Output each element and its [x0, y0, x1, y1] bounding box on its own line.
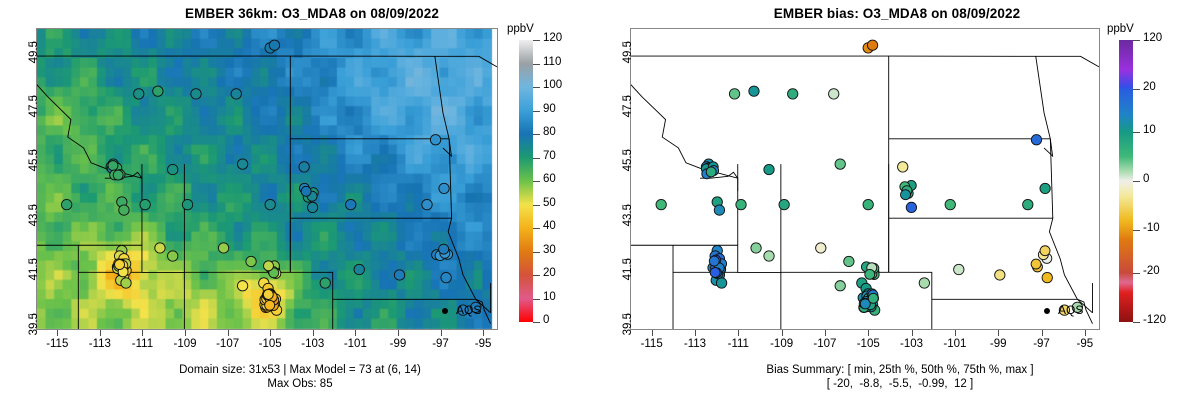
- observation-marker[interactable]: [835, 159, 845, 169]
- aqs-dot-icon: [442, 308, 448, 314]
- observation-marker[interactable]: [829, 89, 839, 99]
- observation-marker[interactable]: [729, 89, 739, 99]
- state-boundary: [184, 272, 332, 330]
- model-overlay: [37, 29, 497, 329]
- model-caption-line1: Domain size: 31x53 | Max Model = 73 at (…: [0, 363, 600, 377]
- x-tick-label: -95: [461, 338, 505, 350]
- state-boundary: [36, 56, 142, 191]
- y-tick-label: 41.5: [622, 258, 634, 288]
- x-tickmark: [695, 330, 696, 336]
- observation-marker[interactable]: [751, 243, 761, 253]
- aqs-dot-icon: [1044, 308, 1050, 314]
- state-boundary: [37, 56, 497, 67]
- x-tick-label: -111: [120, 338, 164, 350]
- state-boundary: [435, 56, 449, 138]
- observation-marker[interactable]: [710, 268, 720, 278]
- colorbar-tickmark: [533, 252, 540, 253]
- colorbar-tick-label: 10: [1143, 124, 1156, 136]
- observation-marker[interactable]: [264, 261, 274, 271]
- colorbar-unit-label: ppbV: [1107, 23, 1134, 35]
- x-tick-label: -95: [1063, 338, 1107, 350]
- x-tick-label: -105: [846, 338, 890, 350]
- observation-marker[interactable]: [113, 170, 123, 180]
- observation-marker[interactable]: [867, 40, 877, 50]
- x-tick-label: -113: [78, 338, 122, 350]
- colorbar-tick-label: 0: [1143, 173, 1149, 185]
- observation-marker[interactable]: [119, 205, 129, 215]
- x-tickmark: [142, 330, 143, 336]
- x-tickmark: [57, 330, 58, 336]
- observation-marker[interactable]: [115, 260, 125, 270]
- colorbar-tick-label: -120: [1143, 314, 1166, 326]
- colorbar-tick-label: 120: [1143, 32, 1162, 44]
- state-boundary: [1036, 56, 1051, 138]
- observation-marker[interactable]: [153, 86, 163, 96]
- observation-marker[interactable]: [906, 202, 916, 212]
- x-tickmark: [483, 330, 484, 336]
- y-tick-label: 49.5: [28, 41, 40, 71]
- colorbar-tickmark: [533, 111, 540, 112]
- model-caption-line2: Max Obs: 85: [0, 377, 600, 391]
- observation-marker[interactable]: [394, 270, 404, 280]
- y-tick-label: 43.5: [622, 204, 634, 234]
- x-tickmark: [868, 330, 869, 336]
- y-tick-label: 41.5: [28, 258, 40, 288]
- panel-bias-title: EMBER bias: O3_MDA8 on 08/09/2022: [600, 6, 1200, 21]
- observation-marker[interactable]: [898, 162, 908, 172]
- x-tickmark: [1085, 330, 1086, 336]
- x-tick-label: -109: [760, 338, 804, 350]
- observation-marker[interactable]: [246, 256, 256, 266]
- x-tickmark: [398, 330, 399, 336]
- x-tickmark: [912, 330, 913, 336]
- colorbar-tick-label: 30: [543, 244, 556, 256]
- state-boundary: [631, 56, 1099, 67]
- model-aqs-legend: AQS: [456, 303, 481, 317]
- model-aqs-label: AQS: [456, 303, 481, 317]
- colorbar-tickmark: [533, 181, 540, 182]
- colorbar-tick-label: 10: [543, 291, 556, 303]
- observation-marker[interactable]: [354, 264, 364, 274]
- observation-marker[interactable]: [865, 269, 875, 279]
- colorbar-tickmark: [533, 228, 540, 229]
- observation-marker[interactable]: [61, 199, 71, 209]
- colorbar-tick-label: -10: [1143, 222, 1160, 234]
- x-tickmark: [441, 330, 442, 336]
- observation-marker[interactable]: [168, 164, 178, 174]
- y-tick-label: 39.5: [622, 313, 634, 343]
- x-tick-label: -101: [933, 338, 977, 350]
- figure-root: EMBER 36km: O3_MDA8 on 08/09/2022 AQS Do…: [0, 0, 1200, 409]
- colorbar-tick-label: 90: [543, 103, 556, 115]
- colorbar-tick-label: 60: [543, 173, 556, 185]
- observation-marker[interactable]: [1023, 199, 1033, 209]
- state-boundary: [673, 245, 738, 272]
- observation-marker[interactable]: [764, 164, 774, 174]
- colorbar-tickmark: [1133, 230, 1140, 231]
- observation-marker[interactable]: [844, 256, 854, 266]
- observation-marker[interactable]: [182, 199, 192, 209]
- colorbar-tickmark: [1133, 322, 1140, 323]
- observation-marker[interactable]: [307, 202, 317, 212]
- x-tickmark: [270, 330, 271, 336]
- y-tick-label: 47.5: [28, 95, 40, 125]
- model-plot-area: [36, 28, 498, 330]
- colorbar-tickmark: [533, 158, 540, 159]
- observation-marker[interactable]: [749, 86, 759, 96]
- colorbar-tick-label: 50: [543, 197, 556, 209]
- observation-marker[interactable]: [134, 89, 144, 99]
- observation-marker[interactable]: [237, 281, 247, 291]
- observation-marker[interactable]: [265, 300, 275, 310]
- state-boundary: [630, 56, 738, 191]
- observation-marker[interactable]: [954, 264, 964, 274]
- observation-marker[interactable]: [1031, 259, 1041, 269]
- observation-marker[interactable]: [709, 256, 719, 266]
- x-tickmark: [100, 330, 101, 336]
- observation-marker[interactable]: [155, 243, 165, 253]
- y-tick-label: 39.5: [28, 313, 40, 343]
- panel-bias: EMBER bias: O3_MDA8 on 08/09/2022 AQS Bi…: [600, 0, 1200, 409]
- x-tick-label: -111: [716, 338, 760, 350]
- colorbar-tick-label: 120: [543, 32, 562, 44]
- observation-marker[interactable]: [218, 243, 228, 253]
- x-tickmark: [1042, 330, 1043, 336]
- observation-marker[interactable]: [1040, 246, 1050, 256]
- x-tickmark: [955, 330, 956, 336]
- state-boundary: [443, 139, 451, 156]
- observation-marker[interactable]: [422, 199, 432, 209]
- observation-marker[interactable]: [1031, 135, 1041, 145]
- observation-marker[interactable]: [863, 199, 873, 209]
- observation-marker[interactable]: [299, 162, 309, 172]
- x-tickmark: [355, 330, 356, 336]
- observation-marker[interactable]: [237, 159, 247, 169]
- colorbar-tick-label: 110: [543, 56, 561, 68]
- y-tick-label: 47.5: [622, 95, 634, 125]
- x-tickmark: [313, 330, 314, 336]
- bias-aqs-label: AQS: [1058, 303, 1083, 317]
- x-tick-label: -109: [163, 338, 207, 350]
- x-tick-label: -107: [206, 338, 250, 350]
- colorbar-tickmark: [533, 134, 540, 135]
- observation-marker[interactable]: [919, 278, 929, 288]
- observation-marker[interactable]: [1042, 272, 1052, 282]
- panel-model-title: EMBER 36km: O3_MDA8 on 08/09/2022: [0, 6, 600, 21]
- observation-marker[interactable]: [1040, 183, 1050, 193]
- y-tick-label: 49.5: [622, 41, 634, 71]
- colorbar-tick-label: 20: [543, 267, 556, 279]
- x-tick-label: -103: [291, 338, 335, 350]
- x-tick-label: -97: [419, 338, 463, 350]
- observation-marker[interactable]: [439, 244, 449, 254]
- colorbar-tick-label: -20: [1143, 265, 1160, 277]
- observation-marker[interactable]: [764, 251, 774, 261]
- observation-marker[interactable]: [231, 89, 241, 99]
- observation-marker[interactable]: [191, 89, 201, 99]
- y-tick-label: 45.5: [28, 149, 40, 179]
- x-tick-label: -103: [890, 338, 934, 350]
- state-boundary: [1044, 139, 1053, 156]
- x-tick-label: -99: [376, 338, 420, 350]
- observation-marker[interactable]: [121, 278, 131, 288]
- colorbar-tick-label: 40: [543, 220, 556, 232]
- colorbar-tickmark: [1133, 181, 1140, 182]
- colorbar-tickmark: [533, 322, 540, 323]
- colorbar-tick-label: 20: [1143, 81, 1156, 93]
- state-boundary: [889, 218, 1093, 313]
- x-tick-label: -105: [248, 338, 292, 350]
- colorbar-tick-label: 70: [543, 150, 556, 162]
- observation-marker[interactable]: [140, 199, 150, 209]
- colorbar-tickmark: [533, 87, 540, 88]
- colorbar-tickmark: [533, 64, 540, 65]
- observation-marker[interactable]: [995, 270, 1005, 280]
- colorbar-tickmark: [533, 40, 540, 41]
- bias-aqs-legend: AQS: [1058, 303, 1083, 317]
- colorbar-tickmark: [1133, 132, 1140, 133]
- colorbar-tickmark: [1133, 89, 1140, 90]
- observation-marker[interactable]: [346, 199, 356, 209]
- observation-marker[interactable]: [430, 135, 440, 145]
- x-tickmark: [738, 330, 739, 336]
- observation-marker[interactable]: [706, 167, 716, 177]
- observation-marker[interactable]: [945, 199, 955, 209]
- x-tickmark: [228, 330, 229, 336]
- bias-caption-line1: Bias Summary: [ min, 25th %, 50th %, 75t…: [600, 363, 1200, 377]
- observation-marker[interactable]: [736, 199, 746, 209]
- bias-plot-area: [630, 28, 1100, 330]
- observation-marker[interactable]: [656, 199, 666, 209]
- x-tick-label: -107: [803, 338, 847, 350]
- bias-caption-line2: [ -20, -8.8, -5.5, -0.99, 12 ]: [600, 377, 1200, 391]
- observation-marker[interactable]: [320, 278, 330, 288]
- observation-marker[interactable]: [788, 89, 798, 99]
- state-boundary: [290, 218, 490, 313]
- state-boundary: [78, 272, 184, 330]
- colorbar: [1119, 40, 1133, 322]
- colorbar-tickmark: [533, 275, 540, 276]
- x-tick-label: -101: [333, 338, 377, 350]
- observation-marker[interactable]: [835, 281, 845, 291]
- observation-marker[interactable]: [779, 199, 789, 209]
- x-tick-label: -113: [673, 338, 717, 350]
- observation-marker[interactable]: [868, 293, 878, 303]
- x-tickmark: [185, 330, 186, 336]
- state-boundary: [78, 245, 142, 272]
- colorbar-tickmark: [533, 299, 540, 300]
- x-tick-label: -97: [1020, 338, 1064, 350]
- observation-marker[interactable]: [269, 40, 279, 50]
- observation-marker[interactable]: [301, 186, 311, 196]
- state-boundary: [781, 272, 932, 330]
- observation-marker[interactable]: [901, 190, 911, 200]
- observation-marker[interactable]: [265, 199, 275, 209]
- x-tick-label: -115: [630, 338, 674, 350]
- observation-marker[interactable]: [108, 161, 118, 171]
- colorbar-tickmark: [1133, 40, 1140, 41]
- colorbar-tickmark: [533, 205, 540, 206]
- colorbar-tick-label: 100: [543, 79, 562, 91]
- observation-marker[interactable]: [716, 278, 726, 288]
- x-tick-label: -99: [976, 338, 1020, 350]
- observation-marker[interactable]: [441, 272, 451, 282]
- colorbar-tick-label: 80: [543, 126, 556, 138]
- colorbar-tickmark: [1133, 273, 1140, 274]
- x-tick-label: -115: [35, 338, 79, 350]
- observation-marker[interactable]: [263, 289, 273, 299]
- y-tick-label: 45.5: [622, 149, 634, 179]
- x-tickmark: [825, 330, 826, 336]
- x-tickmark: [782, 330, 783, 336]
- panel-model: EMBER 36km: O3_MDA8 on 08/09/2022 AQS Do…: [0, 0, 600, 409]
- colorbar-unit-label: ppbV: [507, 23, 534, 35]
- observation-marker[interactable]: [439, 183, 449, 193]
- x-tickmark: [652, 330, 653, 336]
- y-tick-label: 43.5: [28, 204, 40, 234]
- state-boundary: [673, 272, 781, 330]
- observation-marker[interactable]: [816, 243, 826, 253]
- colorbar: [519, 40, 533, 322]
- observation-marker[interactable]: [168, 251, 178, 261]
- observation-marker[interactable]: [714, 205, 724, 215]
- colorbar-tick-label: 0: [543, 314, 549, 326]
- x-tickmark: [998, 330, 999, 336]
- bias-overlay: [631, 29, 1099, 329]
